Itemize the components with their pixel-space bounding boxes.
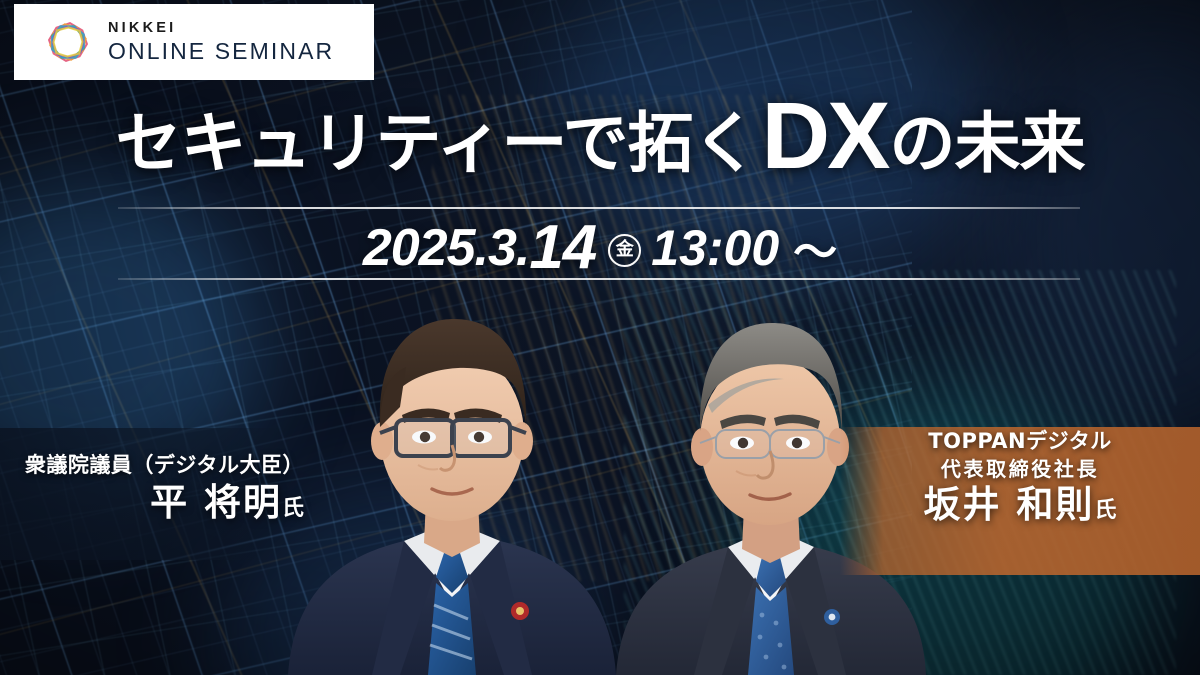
logo-wordmark: NIKKEI ONLINE SEMINAR: [108, 21, 334, 64]
speaker-left-name: 平 将明: [150, 481, 282, 524]
speaker-left-name-suffix: 氏: [282, 496, 304, 521]
nikkei-rainbow-ring-icon: [44, 18, 92, 66]
speaker-left-portrait-icon: [276, 275, 628, 675]
event-start-time: 13:00: [651, 219, 779, 277]
speaker-label-right: TOPPANデジタル 代表取締役社長 坂井 和則氏: [848, 428, 1192, 526]
nikkei-online-seminar-logo: NIKKEI ONLINE SEMINAR: [14, 4, 374, 80]
speaker-left-role: 衆議院議員（デジタル大臣）: [0, 452, 304, 480]
speaker-right-title: 代表取締役社長: [848, 456, 1192, 482]
logo-nikkei-text: NIKKEI: [108, 21, 334, 36]
speaker-photo-left: [276, 275, 628, 675]
event-datetime: 2025.3. 14 金 13:00 〜: [0, 216, 1200, 280]
speaker-right-name: 坂井 和則: [924, 483, 1095, 526]
title-part-2: の未来: [890, 111, 1085, 177]
seminar-banner: NIKKEI ONLINE SEMINAR セキュリティーで拓く DX の未来 …: [0, 0, 1200, 675]
page-title: セキュリティーで拓く DX の未来: [0, 97, 1200, 177]
speaker-right-company: TOPPANデジタル: [848, 428, 1192, 456]
title-part-1: セキュリティーで拓く: [115, 111, 757, 177]
speaker-left-name-row: 平 将明氏: [0, 482, 304, 524]
divider-top: [118, 207, 1080, 209]
event-day: 14: [529, 217, 596, 279]
title-highlight-dx: DX: [762, 97, 888, 177]
event-time-suffix: 〜: [793, 216, 837, 280]
event-weekday-badge: 金: [608, 234, 641, 267]
speaker-label-left: 衆議院議員（デジタル大臣） 平 将明氏: [0, 452, 320, 524]
event-year-month: 2025.3.: [363, 222, 530, 274]
speaker-right-name-suffix: 氏: [1094, 498, 1116, 523]
speaker-right-name-row: 坂井 和則氏: [848, 484, 1192, 526]
logo-online-seminar-text: ONLINE SEMINAR: [108, 40, 334, 63]
